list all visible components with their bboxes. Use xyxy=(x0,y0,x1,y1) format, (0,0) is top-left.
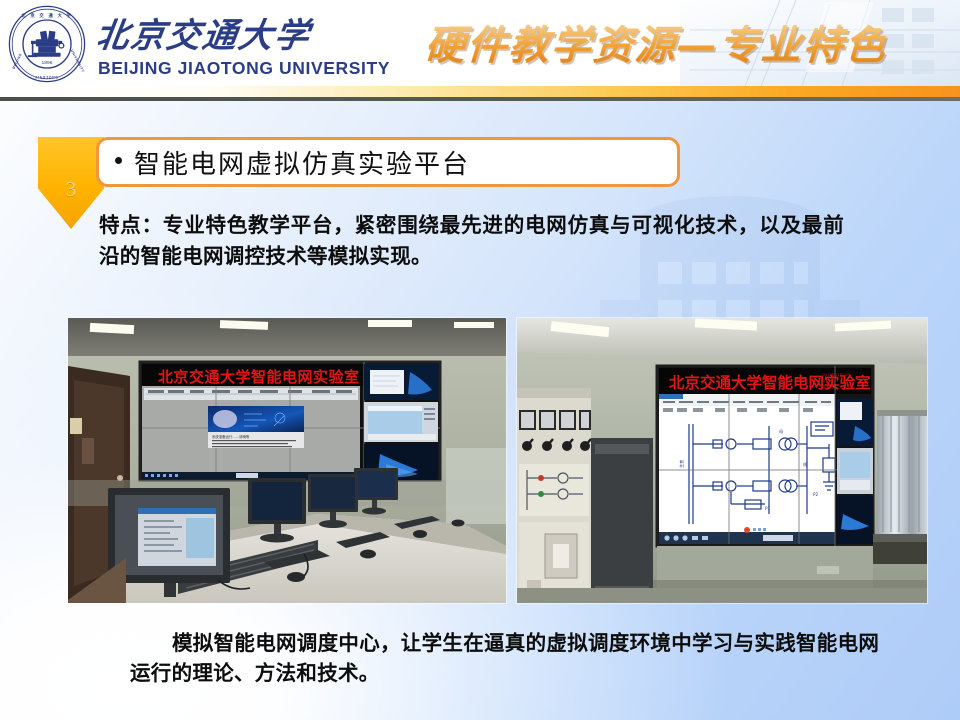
bjtu-seal-icon: 1896 北 京 交 通 大 学 JIAOTONG BEIJING UNIVER… xyxy=(7,4,87,84)
photo-right: 北京交通大学智能电网实验室 2018年11月20日 13:06:27 星期二 xyxy=(517,318,927,603)
svg-text:2018年11月20日: 2018年11月20日 xyxy=(823,372,850,377)
svg-text:P2: P2 xyxy=(813,492,819,497)
svg-text:13:06:27: 13:06:27 xyxy=(823,379,838,383)
svg-text:北 京 交 通 大 学: 北 京 交 通 大 学 xyxy=(21,12,72,19)
university-name-en: BEIJING JIAOTONG UNIVERSITY xyxy=(98,58,390,79)
slide-canvas: 1896 北 京 交 通 大 学 JIAOTONG BEIJING UNIVER… xyxy=(0,0,960,720)
svg-text:北京交通大学: 北京交通大学 xyxy=(98,16,316,56)
videowall-banner-left: 北京交通大学智能电网实验室 xyxy=(158,368,360,386)
header-divider xyxy=(0,97,960,101)
bullet-icon xyxy=(115,157,122,164)
callout-box: 智能电网虚拟仿真实验平台 xyxy=(96,137,680,187)
callout-number: 3 xyxy=(38,137,104,229)
svg-text:星期二: 星期二 xyxy=(823,384,834,389)
svg-text:主变: 主变 xyxy=(678,460,685,468)
svg-text:系统准备运行……请稍等: 系统准备运行……请稍等 xyxy=(212,434,250,439)
photo-caption: 模拟智能电网调度中心，让学生在逼真的虚拟调度环境中学习与实践智能电网运行的理论、… xyxy=(130,628,890,688)
university-name-cn: 北京交通大学 xyxy=(98,12,348,56)
svg-text:1896: 1896 xyxy=(41,60,52,66)
callout-label: 智能电网虚拟仿真实验平台 xyxy=(134,150,470,180)
slide-header: 1896 北 京 交 通 大 学 JIAOTONG BEIJING UNIVER… xyxy=(0,0,960,86)
svg-text:JIAOTONG: JIAOTONG xyxy=(35,75,59,79)
svg-text:P1: P1 xyxy=(765,506,771,511)
feature-paragraph: 特点：专业特色教学平台，紧密围绕最先进的电网仿真与可视化技术，以及最前沿的智能电… xyxy=(99,210,844,272)
header-gradient-bar xyxy=(0,86,960,97)
photo-left: 北京交通大学智能电网实验室 2018年11月20日 13:06:33 星期二 xyxy=(68,318,506,603)
photo-left-image: 北京交通大学智能电网实验室 2018年11月20日 13:06:33 星期二 xyxy=(68,318,506,603)
photo-right-image: 北京交通大学智能电网实验室 2018年11月20日 13:06:27 星期二 xyxy=(517,318,927,603)
page-title: 硬件教学资源—专业特色 xyxy=(423,13,888,71)
callout-text-wrapper: 智能电网虚拟仿真实验平台 xyxy=(99,144,470,181)
